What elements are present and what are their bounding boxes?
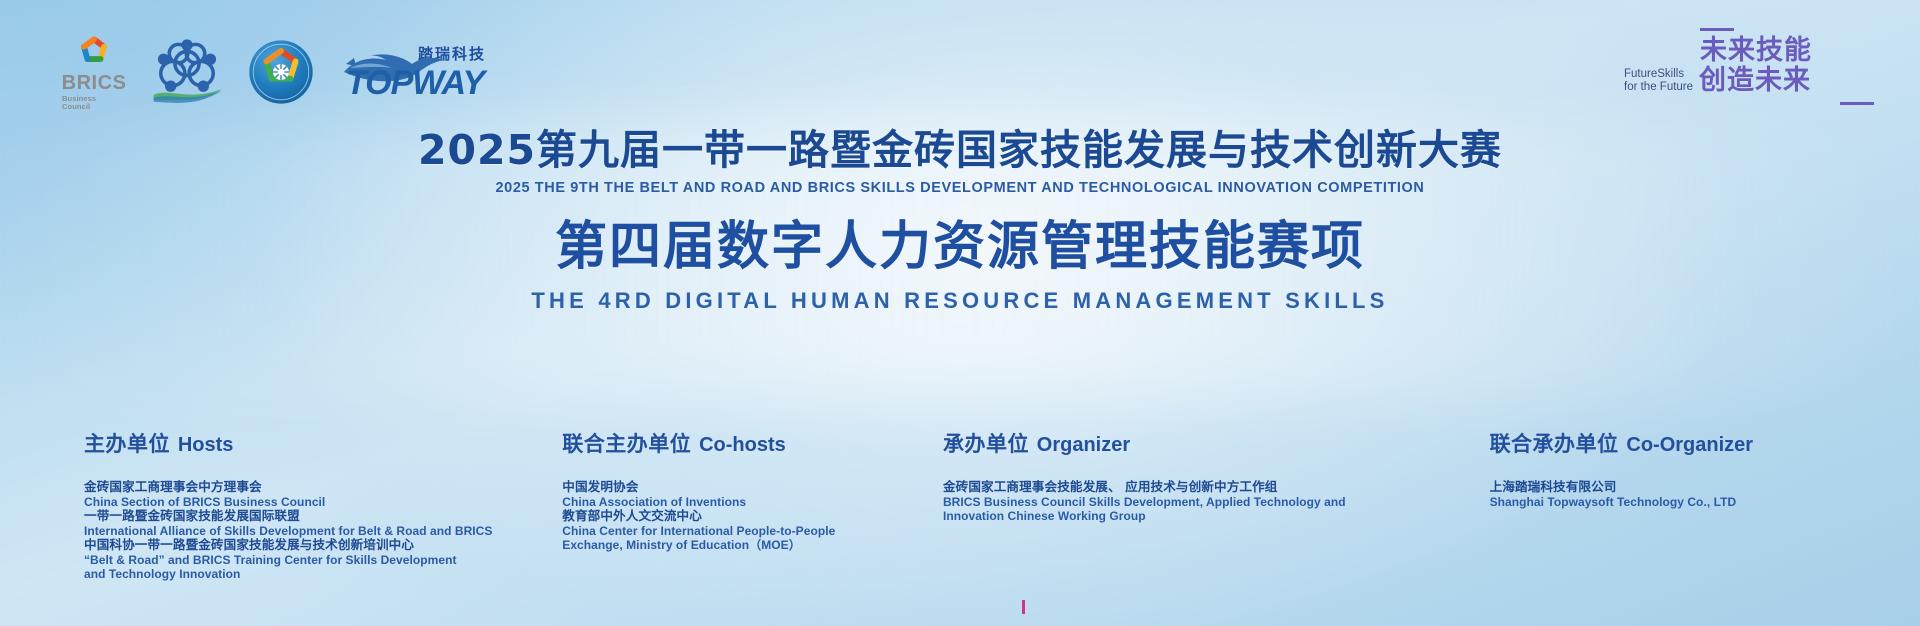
sponsor-logo-row: BRICS Business Council (62, 32, 510, 112)
seal-gear-icon (248, 39, 314, 105)
organizer-heading-cn: 承办单位 (943, 432, 1029, 456)
organizer-line: “Belt & Road” and BRICS Training Center … (84, 553, 562, 567)
organizer-line: 金砖国家工商理事会技能发展、 应用技术与创新中方工作组 (943, 480, 1490, 495)
organizer-line: 中国发明协会 (562, 480, 943, 495)
slogan-rule-bottom (1840, 102, 1874, 105)
alliance-knot-icon (148, 37, 226, 107)
title-block: 2025第九届一带一路暨金砖国家技能发展与技术创新大赛 2025 THE 9TH… (0, 128, 1920, 314)
organizer-line: Innovation Chinese Working Group (943, 509, 1490, 523)
organizer-heading-cn: 主办单位 (84, 432, 170, 456)
organizer-line: 一带一路暨金砖国家技能发展国际联盟 (84, 509, 562, 524)
brics-skills-seal-logo (248, 39, 314, 105)
organizer-line: 上海踏瑞科技有限公司 (1490, 480, 1880, 495)
organizer-columns: 主办单位 Hosts 金砖国家工商理事会中方理事会 China Section … (0, 428, 1920, 581)
slogan-en-line-1: FutureSkills (1624, 68, 1693, 81)
main-title-en: 2025 THE 9TH THE BELT AND ROAD AND BRICS… (0, 180, 1920, 196)
organizer-line: Shanghai Topwaysoft Technology Co., LTD (1490, 495, 1880, 509)
skills-alliance-logo (148, 37, 226, 107)
organizer-heading: 联合主办单位 Co-hosts (562, 428, 943, 458)
future-skills-slogan: 未来技能 FutureSkills for the Future 创造未来 (1624, 28, 1874, 105)
organizer-line: International Alliance of Skills Develop… (84, 524, 562, 538)
organizer-column-co-organizer: 联合承办单位 Co-Organizer 上海踏瑞科技有限公司 Shanghai … (1490, 428, 1880, 581)
topway-logo: 踏瑞科技 TOPWAY (340, 43, 510, 102)
slogan-rule-top (1700, 28, 1734, 31)
brics-business-council-logo: BRICS Business Council (62, 34, 126, 110)
organizer-heading-cn: 联合主办单位 (562, 432, 691, 456)
organizer-column-co-hosts: 联合主办单位 Co-hosts 中国发明协会 China Association… (562, 428, 943, 581)
brics-logo-text: BRICS (62, 73, 127, 93)
organizer-line: 教育部中外人文交流中心 (562, 509, 943, 524)
slogan-english: FutureSkills for the Future (1624, 68, 1693, 96)
organizer-heading: 主办单位 Hosts (84, 428, 562, 458)
organizer-line: Exchange, Ministry of Education（MOE） (562, 538, 943, 552)
main-title-cn: 2025第九届一带一路暨金砖国家技能发展与技术创新大赛 (0, 128, 1920, 174)
slogan-line-2: 创造未来 (1699, 67, 1811, 95)
organizer-heading: 联合承办单位 Co-Organizer (1490, 428, 1880, 458)
pink-marker (1022, 600, 1025, 614)
organizer-heading-cn: 联合承办单位 (1490, 432, 1619, 456)
organizer-line: 中国科协一带一路暨金砖国家技能发展与技术创新培训中心 (84, 538, 562, 553)
organizer-line: China Center for International People-to… (562, 524, 943, 538)
organizer-heading-en: Co-hosts (699, 434, 786, 456)
topway-logo-en: TOPWAY (346, 66, 484, 100)
sub-title-en: THE 4RD DIGITAL HUMAN RESOURCE MANAGEMEN… (0, 288, 1920, 314)
competition-banner: BRICS Business Council (0, 0, 1920, 626)
brics-logo-subtext: Business Council (62, 95, 126, 110)
organizer-heading-en: Co-Organizer (1626, 434, 1753, 456)
slogan-en-line-2: for the Future (1624, 81, 1693, 94)
organizer-heading: 承办单位 Organizer (943, 428, 1490, 458)
organizer-line: and Technology Innovation (84, 567, 562, 581)
organizer-line: BRICS Business Council Skills Developmen… (943, 495, 1490, 509)
slogan-line-1: 未来技能 (1700, 37, 1874, 65)
organizer-heading-en: Organizer (1037, 434, 1130, 456)
organizer-line: China Association of Inventions (562, 495, 943, 509)
organizer-column-organizer: 承办单位 Organizer 金砖国家工商理事会技能发展、 应用技术与创新中方工… (943, 428, 1490, 581)
brics-star-icon (73, 34, 115, 71)
organizer-column-hosts: 主办单位 Hosts 金砖国家工商理事会中方理事会 China Section … (84, 428, 562, 581)
organizer-line: China Section of BRICS Business Council (84, 495, 562, 509)
organizer-heading-en: Hosts (178, 434, 234, 456)
sub-title-cn: 第四届数字人力资源管理技能赛项 (0, 218, 1920, 278)
organizer-line: 金砖国家工商理事会中方理事会 (84, 480, 562, 495)
